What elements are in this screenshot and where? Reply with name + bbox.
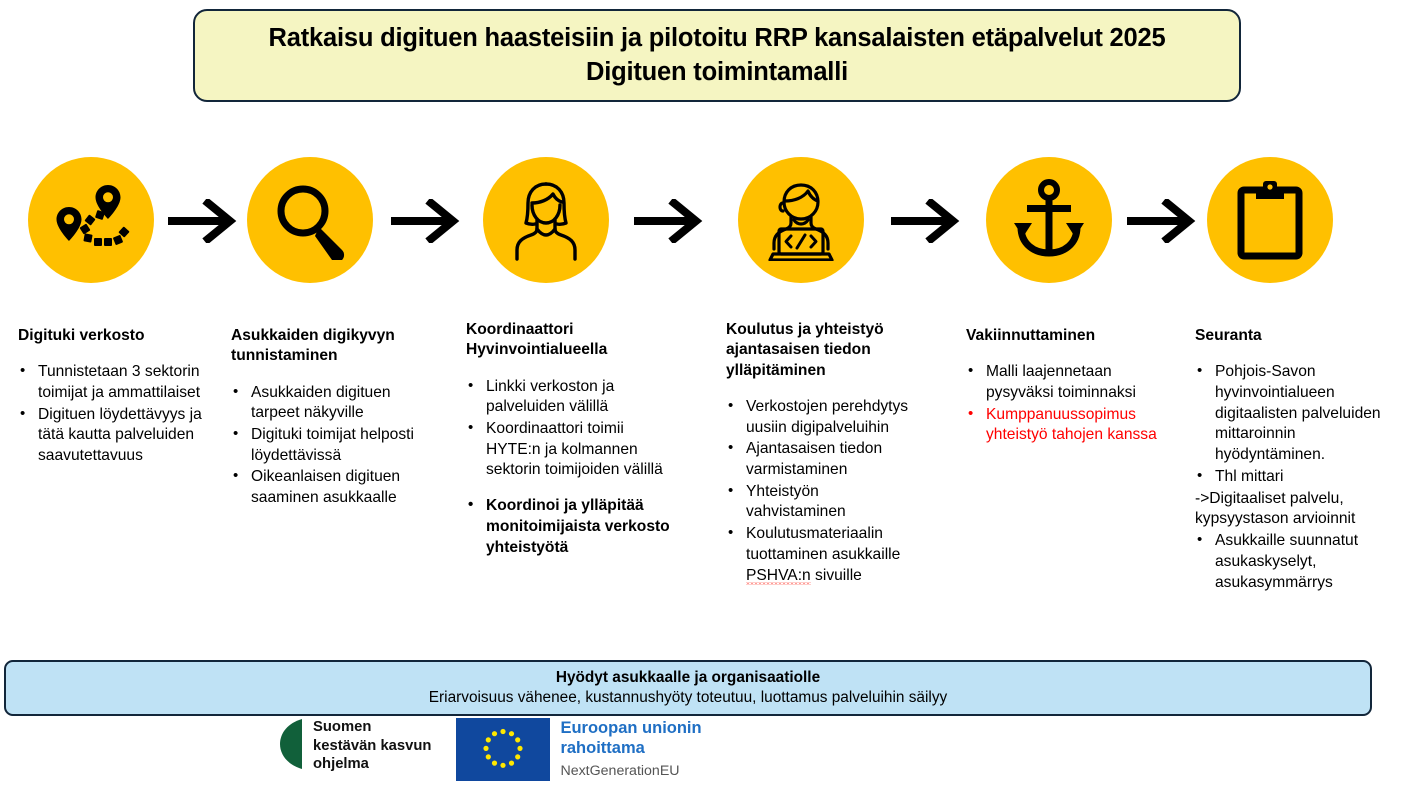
arrow-right-icon <box>632 199 704 243</box>
column-4-list: Verkostojen perehdytys uusiin digipalvel… <box>726 397 922 587</box>
finland-logo-line-1: Suomen <box>313 718 431 736</box>
eu-funding-logo: Euroopan unionin rahoittama NextGenerati… <box>456 718 701 786</box>
column-4: Koulutus ja yhteistyö ajantasaisen tiedo… <box>726 320 922 587</box>
column-1-heading: Digituki verkosto <box>18 326 226 346</box>
benefit-banner-subtitle: Eriarvoisuus vähenee, kustannushyöty tot… <box>429 688 947 708</box>
flow-step-5-circle[interactable] <box>986 157 1112 283</box>
clipboard-icon <box>1236 180 1304 260</box>
list-spacer <box>466 482 670 495</box>
list-item: Thl mittari <box>1195 467 1391 488</box>
title-banner: Ratkaisu digituen haasteisiin ja pilotoi… <box>193 9 1241 102</box>
flow-arrow-2 <box>389 199 461 243</box>
list-item: Tunnistetaan 3 sektorin toimijat ja amma… <box>18 362 226 403</box>
finland-leaf-icon <box>278 717 304 776</box>
magnifier-search-icon <box>270 180 350 260</box>
column-4-heading: Koulutus ja yhteistyö ajantasaisen tiedo… <box>726 320 922 381</box>
arrow-right-icon <box>1125 199 1197 243</box>
flow-arrow-4 <box>889 199 961 243</box>
list-item: Digituki toimijat helposti löydettävissä <box>231 425 443 466</box>
list-item: Asukkaille suunnatut asukaskyselyt, asuk… <box>1195 531 1391 593</box>
list-item-highlighted: Kumppanuussopimus yhteistyö tahojen kans… <box>966 405 1166 446</box>
column-2-list: Asukkaiden digituen tarpeet näkyville Di… <box>231 383 443 509</box>
column-3-heading: Koordinaattori Hyvinvointialueella <box>466 320 670 361</box>
flow-step-6-circle[interactable] <box>1207 157 1333 283</box>
column-5-heading: Vakiinnuttaminen <box>966 326 1166 346</box>
column-3: Koordinaattori Hyvinvointialueella Linkk… <box>466 320 670 559</box>
column-3-list: Linkki verkoston ja palveluiden välillä … <box>466 377 670 559</box>
column-2: Asukkaiden digikyvyn tunnistaminen Asukk… <box>231 326 443 510</box>
list-item: Oikeanlaisen digituen saaminen asukkaall… <box>231 467 443 508</box>
route-pins-icon <box>50 183 132 257</box>
list-item: Ajantasaisen tiedon varmistaminen <box>726 439 922 480</box>
column-5-list: Malli laajennetaan pysyväksi toiminnaksi… <box>966 362 1166 446</box>
eu-logo-line-1: Euroopan unionin <box>560 719 701 739</box>
column-5: Vakiinnuttaminen Malli laajennetaan pysy… <box>966 326 1166 447</box>
list-item: Digituen löydettävyys ja tätä kautta pal… <box>18 405 226 467</box>
column-2-heading: Asukkaiden digikyvyn tunnistaminen <box>231 326 443 367</box>
person-woman-icon <box>506 179 586 261</box>
arrow-right-icon <box>889 199 961 243</box>
finland-sustainable-growth-logo: Suomen kestävän kasvun ohjelma <box>278 718 431 774</box>
flow-arrow-1 <box>166 199 238 243</box>
list-item: Malli laajennetaan pysyväksi toiminnaksi <box>966 362 1166 403</box>
flow-step-2-circle[interactable] <box>247 157 373 283</box>
eu-logo-text: Euroopan unionin rahoittama NextGenerati… <box>560 718 701 780</box>
finland-logo-line-2: kestävän kasvun <box>313 737 431 755</box>
logo-strip: Suomen kestävän kasvun ohjelma <box>278 718 738 784</box>
benefit-banner-title: Hyödyt asukkaalle ja organisaatiolle <box>556 668 820 687</box>
anchor-icon <box>1011 179 1087 261</box>
eu-logo-line-2: rahoittama <box>560 739 701 759</box>
column-1-list: Tunnistetaan 3 sektorin toimijat ja amma… <box>18 362 226 467</box>
list-item: Asukkaiden digituen tarpeet näkyville <box>231 383 443 424</box>
column-1: Digituki verkosto Tunnistetaan 3 sektori… <box>18 326 226 468</box>
arrow-right-icon <box>389 199 461 243</box>
finland-logo-text: Suomen kestävän kasvun ohjelma <box>313 718 431 773</box>
page-title: Ratkaisu digituen haasteisiin ja pilotoi… <box>251 22 1184 88</box>
eu-logo-line-3: NextGenerationEU <box>560 763 701 780</box>
process-flow-row <box>0 157 1410 285</box>
flow-step-1-circle[interactable] <box>28 157 154 283</box>
benefit-banner: Hyödyt asukkaalle ja organisaatiolle Eri… <box>4 660 1372 716</box>
eu-flag-icon <box>456 718 550 786</box>
list-item: Pohjois-Savon hyvinvointialueen digitaal… <box>1195 362 1391 466</box>
title-line-2: Digituen toimintamalli <box>586 58 848 86</box>
flow-arrow-3 <box>632 199 704 243</box>
list-item: Verkostojen perehdytys uusiin digipalvel… <box>726 397 922 438</box>
arrow-right-icon <box>166 199 238 243</box>
list-item: Koordinaattori toimii HYTE:n ja kolmanne… <box>466 419 670 481</box>
flow-arrow-5 <box>1125 199 1197 243</box>
list-item-spellchecked: Koulutusmateriaalin tuottaminen asukkail… <box>726 524 922 586</box>
list-item: Linkki verkoston ja palveluiden välillä <box>466 377 670 418</box>
finland-logo-line-3: ohjelma <box>313 755 431 773</box>
column-6-list: Pohjois-Savon hyvinvointialueen digitaal… <box>1195 362 1391 593</box>
list-item-continuation: ->Digitaaliset palvelu, kypsyystason arv… <box>1195 489 1391 530</box>
column-6: Seuranta Pohjois-Savon hyvinvointialueen… <box>1195 326 1391 594</box>
column-6-heading: Seuranta <box>1195 326 1391 346</box>
flow-step-3-circle[interactable] <box>483 157 609 283</box>
title-line-1: Ratkaisu digituen haasteisiin ja pilotoi… <box>269 24 1166 52</box>
list-item: Yhteistyön vahvistaminen <box>726 482 922 523</box>
person-laptop-code-icon <box>759 179 843 261</box>
flow-step-4-circle[interactable] <box>738 157 864 283</box>
list-item: Koordinoi ja ylläpitää monitoimijaista v… <box>466 496 670 558</box>
misspelled-word: PSHVA:n <box>746 567 811 585</box>
